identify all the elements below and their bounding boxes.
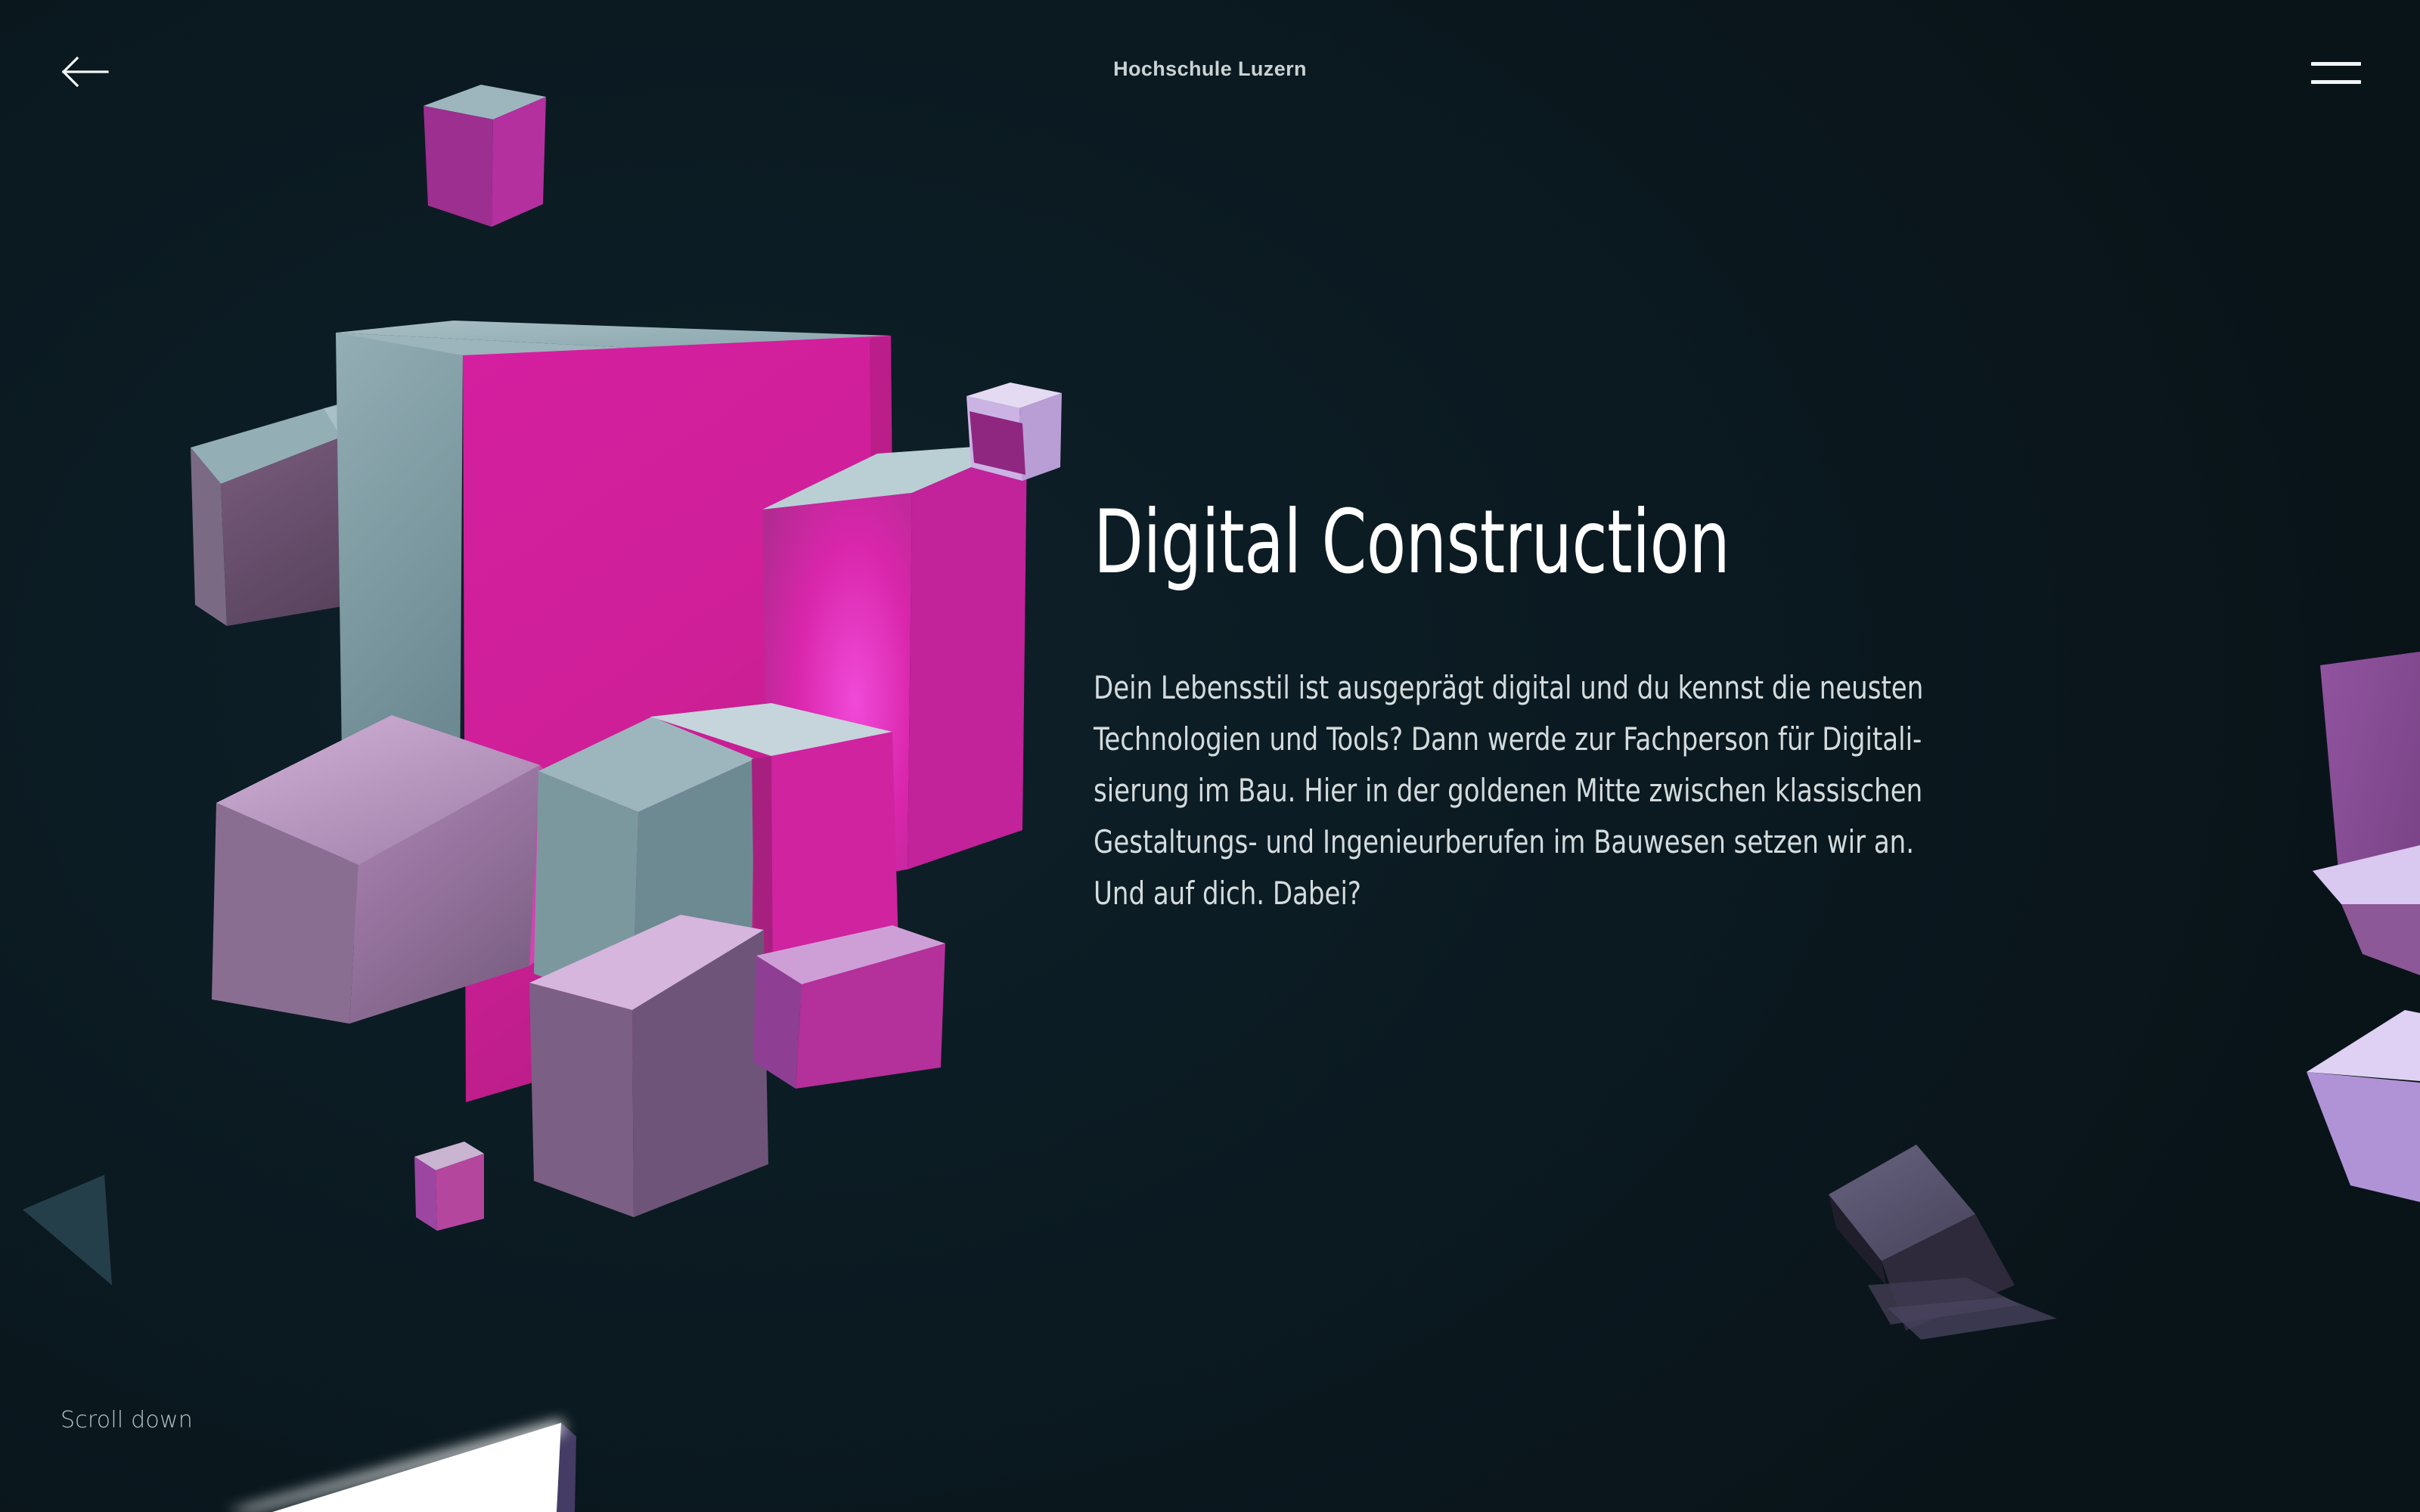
cube-right-edge-lavender [2307,1010,2420,1202]
scroll-down-hint[interactable]: Scroll down [60,1407,193,1433]
body-line: Technologien und Tools? Dann werde zur F… [1094,714,2155,765]
decor-triangle-slate [23,1175,112,1285]
decor-white-wedge [227,1420,576,1512]
hamburger-menu-button[interactable] [2311,59,2361,85]
body-line: Dein Lebensstil ist ausgeprägt digital u… [1094,662,2155,714]
body-line: sierung im Bau. Hier in der goldenen Mit… [1094,765,2155,816]
page-body-text: Dein Lebensstil ist ausgeprägt digital u… [1094,662,2155,919]
cube-tiny-bottom [414,1142,484,1231]
cube-bottom-right-slate [1829,1145,2057,1340]
brand-title: Hochschule Luzern [0,57,2420,81]
top-bar: Hochschule Luzern [0,0,2420,151]
page-title: Digital Construction [1094,499,1974,587]
hamburger-bar-top [2311,62,2361,66]
hamburger-bar-bottom [2311,80,2361,84]
page-root: Hochschule Luzern Digital Construction D… [0,0,2420,1512]
hero-content: Digital Construction Dein Lebensstil ist… [1094,499,2167,919]
body-line: Gestaltungs- und Ingenieurberufen im Bau… [1094,816,2155,868]
body-line: Und auf dich. Dabei? [1094,868,2155,919]
cube-right-edge-purple [2313,652,2420,975]
